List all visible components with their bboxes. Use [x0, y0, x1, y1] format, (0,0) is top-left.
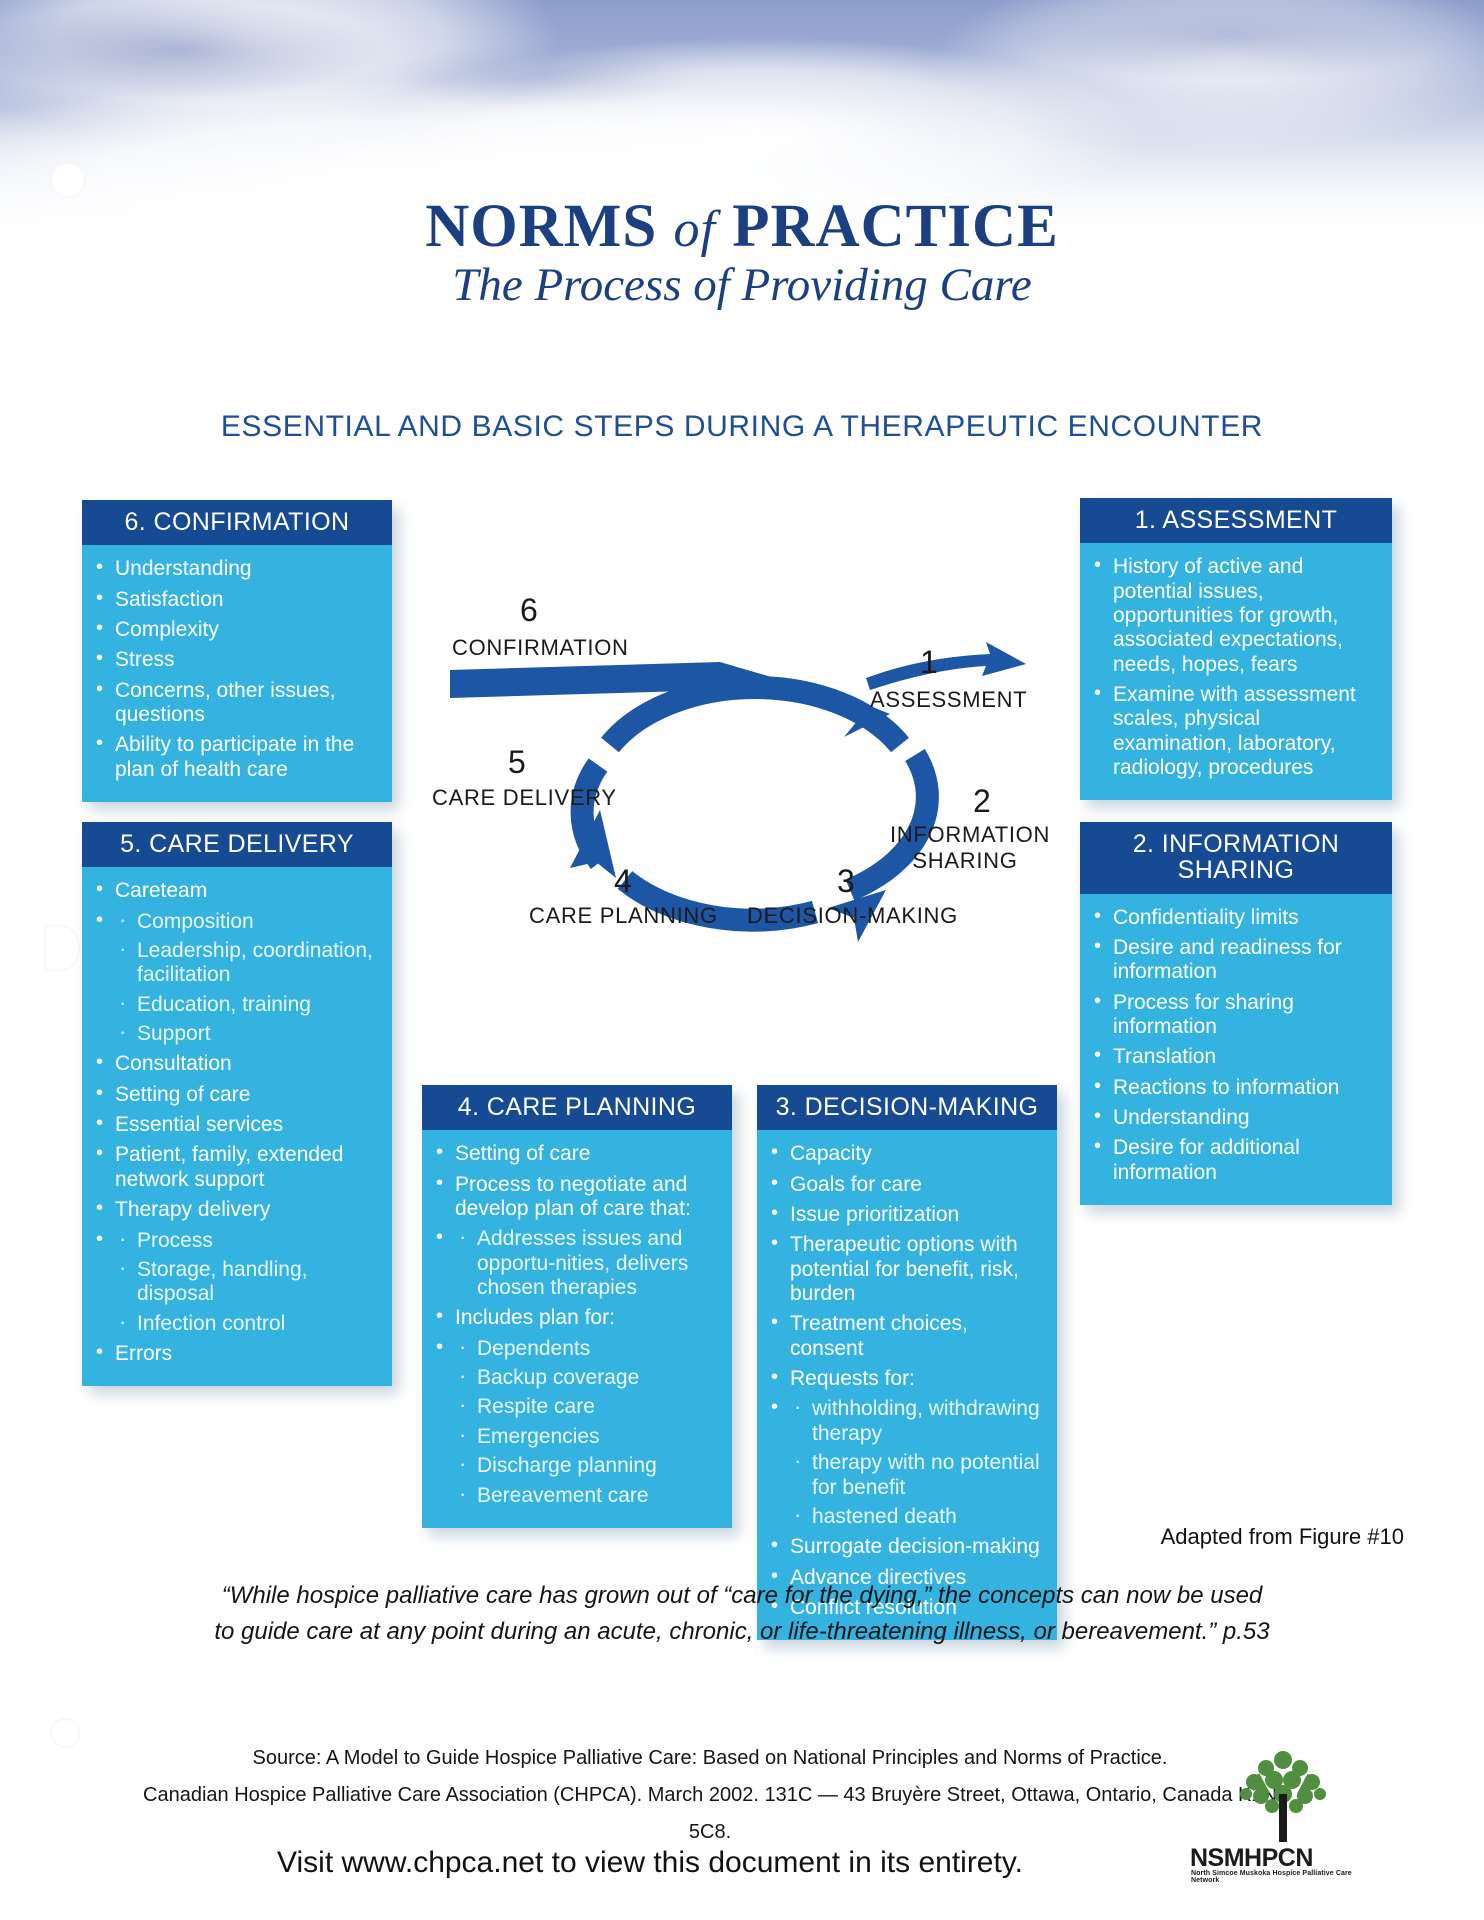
list-item: Setting of care — [96, 1083, 380, 1107]
title-practice: PRACTICE — [732, 193, 1059, 260]
panel-care-delivery-heading: 5. CARE DELIVERY — [82, 822, 392, 867]
panel-care-delivery: 5. CARE DELIVERY Careteam Composition Le… — [82, 822, 392, 1386]
title-norms: NORMS — [425, 193, 657, 260]
list-item: Goals for care — [771, 1173, 1045, 1197]
list-item: Desire for additional information — [1094, 1136, 1380, 1185]
sub-list-item: Bereavement care — [455, 1484, 720, 1508]
cycle-label-assessment: ASSESSMENT — [870, 687, 1027, 713]
section-banner: ESSENTIAL AND BASIC STEPS DURING A THERA… — [0, 410, 1484, 444]
arrow-exit-assessment — [866, 642, 1026, 690]
sub-list-item: Process — [115, 1229, 380, 1253]
list-item: Issue prioritization — [771, 1203, 1045, 1227]
tree-icon — [1228, 1744, 1338, 1844]
panel-care-delivery-body: Careteam Composition Leadership, coordin… — [82, 867, 392, 1386]
cycle-label-information-sharing: INFORMATION SHARING — [890, 822, 1040, 874]
cloud-wisp-center — [330, 30, 750, 120]
cycle-diagram: 6 CONFIRMATION 1 ASSESSMENT 2 INFORMATIO… — [420, 590, 1080, 1010]
list-item: Understanding — [96, 557, 380, 581]
nsmhpcn-logo: NSMHPCN North Simcoe Muskoka Hospice Pal… — [1190, 1750, 1370, 1900]
sub-list-item: Emergencies — [455, 1425, 720, 1449]
list-item: Process to negotiate and develop plan of… — [436, 1173, 720, 1222]
sub-list-wrapper: Process Storage, handling, disposal Infe… — [96, 1229, 380, 1336]
list-item: Therapy delivery — [96, 1198, 380, 1222]
binder-hole-middle — [44, 925, 80, 971]
panel-care-planning-body: Setting of care Process to negotiate and… — [422, 1130, 732, 1528]
page-subtitle: The Process of Providing Care — [0, 258, 1484, 312]
adapted-from-note: Adapted from Figure #10 — [0, 1524, 1404, 1550]
sub-list-item: Backup coverage — [455, 1366, 720, 1390]
panel-information-sharing: 2. INFORMATION SHARING Confidentiality l… — [1080, 822, 1392, 1205]
sub-list-item: Discharge planning — [455, 1454, 720, 1478]
source-citation: Source: A Model to Guide Hospice Palliat… — [120, 1740, 1300, 1851]
logo-wordmark: NSMHPCN — [1190, 1844, 1355, 1873]
cycle-number-2: 2 — [973, 783, 991, 820]
list-item: Requests for: — [771, 1367, 1045, 1391]
cycle-label-care-delivery: CARE DELIVERY — [432, 785, 617, 811]
logo-tagline: North Simcoe Muskoka Hospice Palliative … — [1191, 1870, 1359, 1884]
list-item: History of active and potential issues, … — [1094, 555, 1380, 677]
quote-line-1: “While hospice palliative care has grown… — [150, 1578, 1334, 1614]
sub-list-wrapper: Dependents Backup coverage Respite care … — [436, 1337, 720, 1508]
tree-trunk — [1279, 1794, 1287, 1842]
quote-line-2: to guide care at any point during an acu… — [150, 1614, 1334, 1650]
cycle-label-care-planning: CARE PLANNING — [529, 903, 718, 929]
panel-decision-making: 3. DECISION-MAKING Capacity Goals for ca… — [757, 1085, 1057, 1640]
sub-list-item: Dependents — [455, 1337, 720, 1361]
panel-decision-making-body: Capacity Goals for care Issue prioritiza… — [757, 1130, 1057, 1640]
source-line-2: Canadian Hospice Palliative Care Associa… — [120, 1777, 1300, 1851]
list-item: Ability to participate in the plan of he… — [96, 733, 380, 782]
panel-confirmation: 6. CONFIRMATION Understanding Satisfacti… — [82, 500, 392, 802]
list-item: Treatment choices, consent — [771, 1312, 1045, 1361]
list-item: Essential services — [96, 1113, 380, 1137]
panel-confirmation-heading: 6. CONFIRMATION — [82, 500, 392, 545]
panel-care-planning: 4. CARE PLANNING Setting of care Process… — [422, 1085, 732, 1528]
panel-assessment-body: History of active and potential issues, … — [1080, 543, 1392, 800]
panel-assessment: 1. ASSESSMENT History of active and pote… — [1080, 498, 1392, 800]
panel-information-sharing-body: Confidentiality limits Desire and readin… — [1080, 894, 1392, 1206]
source-line-1: Source: A Model to Guide Hospice Palliat… — [120, 1740, 1300, 1777]
list-item: Capacity — [771, 1142, 1045, 1166]
list-item: Errors — [96, 1342, 380, 1366]
list-item: Patient, family, extended network suppor… — [96, 1143, 380, 1192]
list-item: Stress — [96, 648, 380, 672]
panel-decision-making-heading: 3. DECISION-MAKING — [757, 1085, 1057, 1130]
title-of: of — [674, 201, 716, 258]
panel-assessment-heading: 1. ASSESSMENT — [1080, 498, 1392, 543]
panel-care-planning-heading: 4. CARE PLANNING — [422, 1085, 732, 1130]
sub-list-item: Support — [115, 1022, 380, 1046]
page-title: NORMS of PRACTICE — [0, 192, 1484, 262]
cycle-number-4: 4 — [614, 863, 632, 900]
arc-top — [610, 687, 900, 745]
pull-quote: “While hospice palliative care has grown… — [150, 1578, 1334, 1650]
sub-list-item: Addresses issues and opportu-nities, del… — [455, 1227, 720, 1300]
cycle-number-5: 5 — [508, 744, 526, 781]
panel-confirmation-body: Understanding Satisfaction Complexity St… — [82, 545, 392, 802]
sub-list-item: therapy with no potential for benefit — [790, 1451, 1045, 1500]
cycle-number-3: 3 — [837, 863, 855, 900]
list-item: Therapeutic options with potential for b… — [771, 1233, 1045, 1306]
sub-list-item: Composition — [115, 910, 380, 934]
sub-list-item: Education, training — [115, 993, 380, 1017]
list-item: Consultation — [96, 1052, 380, 1076]
list-item: Careteam — [96, 879, 380, 903]
visit-website-line: Visit www.chpca.net to view this documen… — [110, 1846, 1190, 1880]
sub-list-wrapper: Composition Leadership, coordination, fa… — [96, 910, 380, 1047]
cycle-number-6: 6 — [520, 592, 538, 629]
list-item: Examine with assessment scales, physical… — [1094, 683, 1380, 780]
list-item: Desire and readiness for information — [1094, 936, 1380, 985]
cycle-label-confirmation: CONFIRMATION — [452, 635, 629, 661]
cloud-wisp-right — [930, 0, 1484, 110]
binder-hole-bottom — [50, 1718, 80, 1748]
sub-list-item: Leadership, coordination, facilitation — [115, 939, 380, 988]
list-item: Satisfaction — [96, 588, 380, 612]
list-item: Translation — [1094, 1045, 1380, 1069]
list-item: Confidentiality limits — [1094, 906, 1380, 930]
list-item: Understanding — [1094, 1106, 1380, 1130]
list-item: Setting of care — [436, 1142, 720, 1166]
sub-list-item: withholding, withdrawing therapy — [790, 1397, 1045, 1446]
panel-information-sharing-heading: 2. INFORMATION SHARING — [1080, 822, 1392, 894]
list-item: Process for sharing information — [1094, 991, 1380, 1040]
cycle-label-decision-making: DECISION-MAKING — [747, 903, 958, 929]
sub-list-wrapper: Addresses issues and opportu-nities, del… — [436, 1227, 720, 1300]
sub-list-item: Infection control — [115, 1312, 380, 1336]
list-item: Includes plan for: — [436, 1306, 720, 1330]
list-item: Complexity — [96, 618, 380, 642]
cycle-number-1: 1 — [920, 644, 938, 681]
sub-list-item: Respite care — [455, 1395, 720, 1419]
list-item: Reactions to information — [1094, 1076, 1380, 1100]
sub-list-item: Storage, handling, disposal — [115, 1258, 380, 1307]
sub-list-wrapper: withholding, withdrawing therapy therapy… — [771, 1397, 1045, 1529]
list-item: Concerns, other issues, questions — [96, 679, 380, 728]
